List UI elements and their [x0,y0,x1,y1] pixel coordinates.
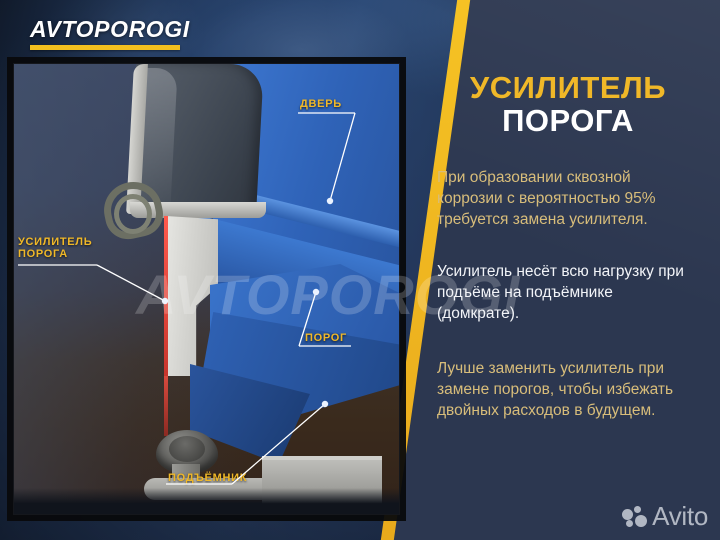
paragraph-load: Усилитель несёт всю нагрузку при подъёме… [437,262,699,325]
headline: УСИЛИТЕЛЬ ПОРОГА [437,72,699,138]
door-hinge-clip-inner-graphic [114,194,152,234]
avito-watermark: Avito [622,501,708,532]
callout-reinforcer-label-line1: УСИЛИТЕЛЬ [18,236,92,248]
callout-lift-leader-line [166,398,356,488]
callout-reinforcer: УСИЛИТЕЛЬ ПОРОГА [18,236,92,260]
paragraph-advice: Лучше заменить усилитель при замене поро… [437,359,699,422]
right-content-column: УСИЛИТЕЛЬ ПОРОГА При образовании сквозно… [437,72,699,422]
avito-logo-icon [622,506,648,528]
callout-door-label: ДВЕРЬ [300,98,342,110]
callout-lift: ПОДЪЁМНИК [168,472,247,484]
brand-logo-underline [30,45,180,50]
illustration-bottom-fade [14,488,400,514]
headline-line-1: УСИЛИТЕЛЬ [437,72,699,105]
callout-sill: ПОРОГ [305,332,347,344]
callout-reinforcer-label-line2: ПОРОГА [18,248,92,260]
poster-stage: AVTOPOROGI ДВЕРЬ [0,0,720,540]
avito-wordmark: Avito [652,501,708,532]
callout-sill-leader-line [299,292,369,352]
brand-logo-text: AVTOPOROGI [30,18,190,41]
callout-reinforcer-leader-line [18,263,188,323]
callout-door-leader-line [298,111,378,211]
brand-logo[interactable]: AVTOPOROGI [30,18,190,50]
callout-door: ДВЕРЬ [300,98,342,110]
headline-line-2: ПОРОГА [437,105,699,138]
paragraph-corrosion: При образовании сквозной коррозии с веро… [437,168,699,231]
